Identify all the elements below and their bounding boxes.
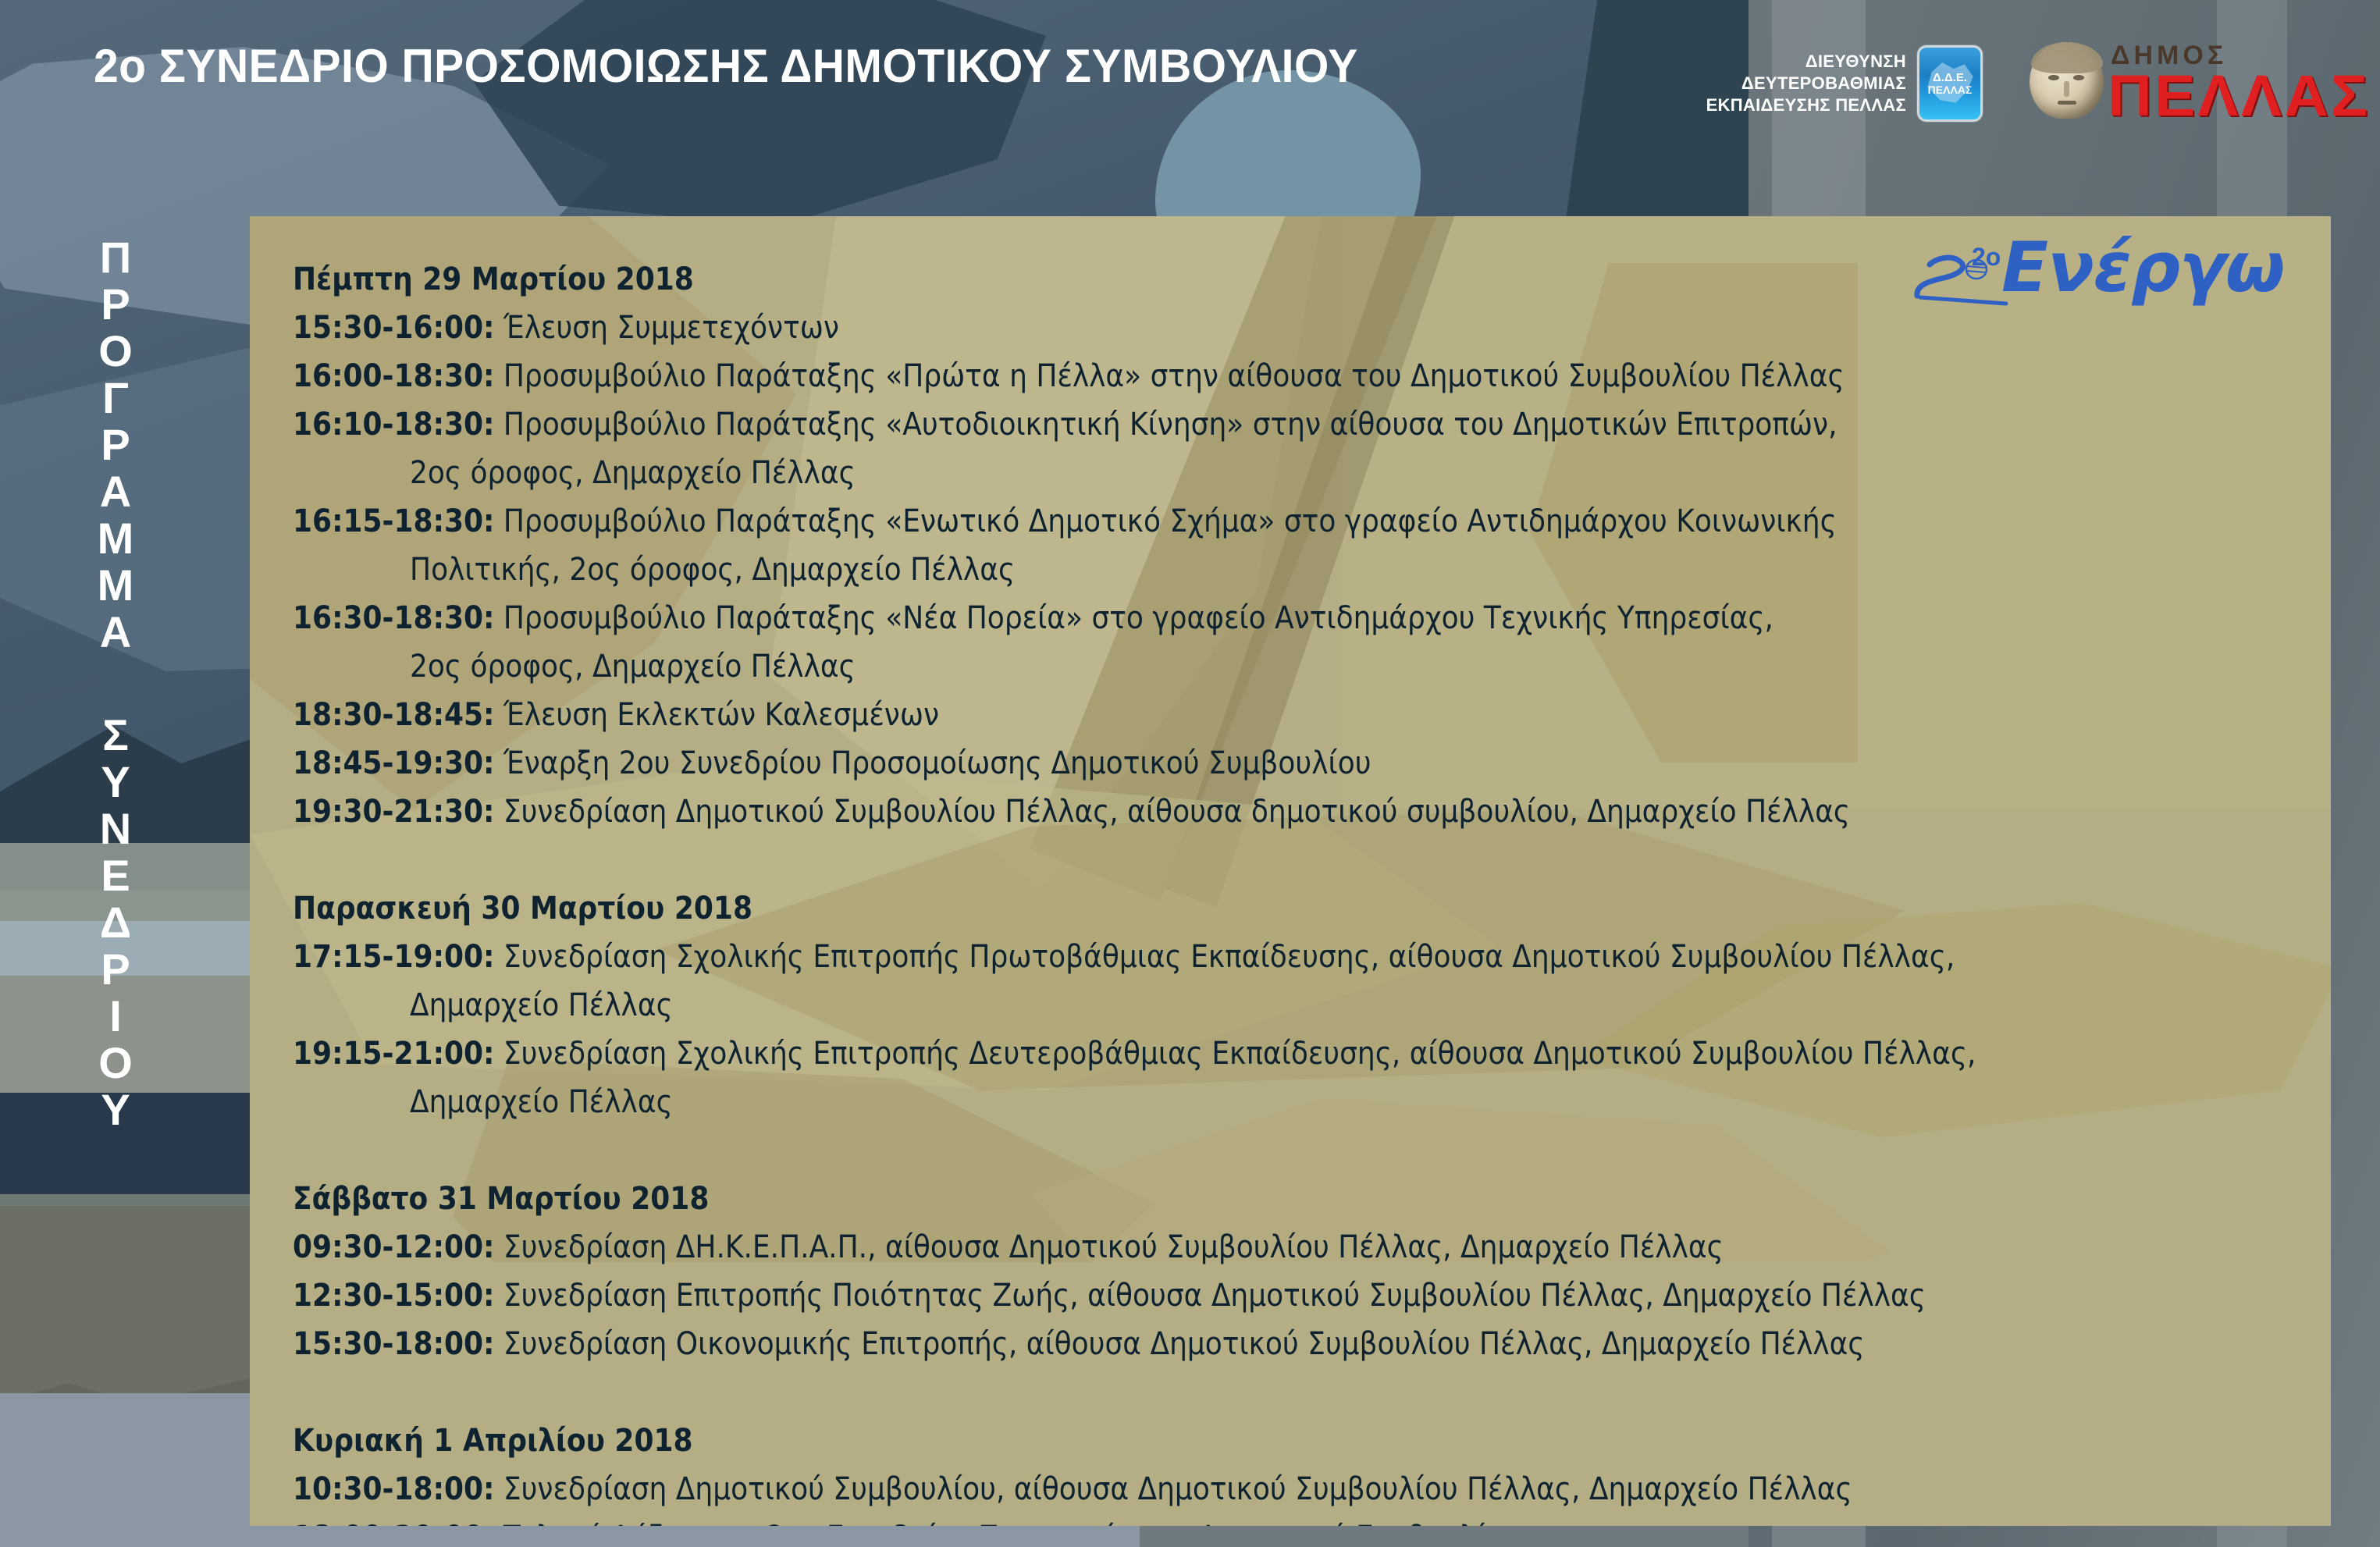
programme-item-text: Προσυμβούλιο Παράταξης «Αυτοδιοικητική Κ… xyxy=(494,407,1837,443)
day-heading: Πέμπτη 29 Μαρτίου 2018 xyxy=(293,255,2322,304)
programme-item-time: 09:30-12:00: xyxy=(293,1229,494,1265)
side-label-synedriou-char-7: Ο xyxy=(98,1040,133,1086)
programme-item: 15:30-18:00: Συνεδρίαση Οικονομικής Επιτ… xyxy=(293,1320,2322,1368)
programme-item-continuation: 2ος όροφος, Δημαρχείο Πέλλας xyxy=(293,449,2322,497)
programme-item-text: Προσυμβούλιο Παράταξης «Πρώτα η Πέλλα» σ… xyxy=(494,358,1844,394)
side-label-synedriou: ΣΥΝΕΔΡΙΟΥ xyxy=(98,712,133,1133)
side-label-programma-char-7: Μ xyxy=(98,562,134,609)
programme-item-continuation: Δημαρχείο Πέλλας xyxy=(293,981,2322,1030)
programme-item-time: 19:30-21:30: xyxy=(293,794,494,830)
programme-item: 09:30-12:00: Συνεδρίαση ΔΗ.Κ.Ε.Π.Α.Π., α… xyxy=(293,1223,2322,1271)
programme-item-time: 16:00-18:30: xyxy=(293,358,494,394)
programme-item-text: Προσυμβούλιο Παράταξης «Ενωτικό Δημοτικό… xyxy=(494,503,1836,539)
side-label-programma-char-6: Μ xyxy=(98,515,134,562)
programme-item-time: 16:30-18:30: xyxy=(293,600,494,636)
programme-item-time: 18:45-19:30: xyxy=(293,745,494,781)
programme-item-text: Συνεδρίαση Σχολικής Επιτροπής Δευτεροβάθ… xyxy=(494,1036,1976,1072)
day-spacer xyxy=(293,1368,2322,1417)
programme-item: 19:30-21:30: Συνεδρίαση Δημοτικού Συμβου… xyxy=(293,788,2322,836)
programme-item-time: 15:30-16:00: xyxy=(293,310,494,346)
pellas-word: ΠΕΛΛΑΣ xyxy=(2108,62,2370,129)
side-label-programma-char-0: Π xyxy=(100,234,131,281)
programme-item: 10:30-18:00: Συνεδρίαση Δημοτικού Συμβου… xyxy=(293,1465,2322,1513)
programme-item-continuation: 2ος όροφος, Δημαρχείο Πέλλας xyxy=(293,642,2322,691)
programme-item-text: Προσυμβούλιο Παράταξης «Νέα Πορεία» στο … xyxy=(494,600,1773,636)
programme-item-text: Έλευση Συμμετεχόντων xyxy=(494,310,839,346)
dde-badge-line-1: Δ.Δ.Ε. xyxy=(1919,71,1980,84)
programme-item: 16:15-18:30: Προσυμβούλιο Παράταξης «Ενω… xyxy=(293,497,2322,546)
day-heading: Παρασκευή 30 Μαρτίου 2018 xyxy=(293,884,2322,933)
side-label-programma-char-5: Α xyxy=(100,468,131,515)
programme-item-text: Συνεδρίαση Δημοτικού Συμβουλίου Πέλλας, … xyxy=(494,794,1850,830)
dde-pellas-logo: ΔΙΕΥΘΥΝΣΗ ΔΕΥΤΕΡΟΒΑΘΜΙΑΣ ΕΚΠΑΙΔΕΥΣΗΣ ΠΕΛ… xyxy=(1672,48,2000,119)
dde-line-1: ΔΙΕΥΘΥΝΣΗ xyxy=(1672,51,1906,73)
programme-item: 17:15-19:00: Συνεδρίαση Σχολικής Επιτροπ… xyxy=(293,933,2322,981)
programme-item-time: 15:30-18:00: xyxy=(293,1326,494,1362)
day-spacer xyxy=(293,836,2322,884)
programme-item-text: Συνεδρίαση Οικονομικής Επιτροπής, αίθουσ… xyxy=(494,1326,1864,1362)
day-block: Κυριακή 1 Απριλίου 201810:30-18:00: Συνε… xyxy=(293,1417,2322,1526)
programme-item-time: 18:00-20:00: xyxy=(293,1520,494,1526)
side-label-synedriou-char-2: Ν xyxy=(100,806,131,852)
side-label-programma-char-3: Γ xyxy=(102,375,129,421)
programme-item-time: 19:15-21:00: xyxy=(293,1036,494,1072)
day-block: Πέμπτη 29 Μαρτίου 201815:30-16:00: Έλευσ… xyxy=(293,255,2322,836)
programme-item-text: Τελετή Λήξης του 2ου Συνεδρίου Προσομοίω… xyxy=(494,1520,1518,1526)
programme-item: 15:30-16:00: Έλευση Συμμετεχόντων xyxy=(293,304,2322,352)
side-label-synedriou-char-5: Ρ xyxy=(101,946,130,993)
programme-item-time: 10:30-18:00: xyxy=(293,1471,494,1507)
programme-item: 18:00-20:00: Τελετή Λήξης του 2ου Συνεδρ… xyxy=(293,1513,2322,1526)
programme-item: 12:30-15:00: Συνεδρίαση Επιτροπής Ποιότη… xyxy=(293,1271,2322,1320)
side-label-programma-char-2: Ο xyxy=(98,328,133,375)
day-heading: Κυριακή 1 Απριλίου 2018 xyxy=(293,1417,2322,1465)
programme-item-time: 17:15-19:00: xyxy=(293,939,494,975)
programme-item: 18:45-19:30: Έναρξη 2ου Συνεδρίου Προσομ… xyxy=(293,739,2322,788)
side-label-synedriou-char-3: Ε xyxy=(101,852,130,899)
programme-item: 19:15-21:00: Συνεδρίαση Σχολικής Επιτροπ… xyxy=(293,1030,2322,1078)
programme-item-continuation: Δημαρχείο Πέλλας xyxy=(293,1078,2322,1126)
vertical-side-label: ΠΡΟΓΡΑΜΜΑ ΣΥΝΕΔΡΙΟΥ xyxy=(84,234,147,1133)
programme-item: 16:30-18:30: Προσυμβούλιο Παράταξης «Νέα… xyxy=(293,594,2322,642)
programme-item-text: Έλευση Εκλεκτών Καλεσμένων xyxy=(494,697,939,733)
programme-item-time: 18:30-18:45: xyxy=(293,697,494,733)
poster-root: 2ο ΣΥΝΕΔΡΙΟ ΠΡΟΣΟΜΟΙΩΣΗΣ ΔΗΜΟΤΙΚΟΥ ΣΥΜΒΟ… xyxy=(0,0,2380,1547)
programme-item-continuation: Πολιτικής, 2ος όροφος, Δημαρχείο Πέλλας xyxy=(293,546,2322,594)
side-label-synedriou-char-8: Υ xyxy=(101,1086,130,1133)
dde-badge-icon: Δ.Δ.Ε. ΠΕΛΛΑΣ xyxy=(1917,45,1983,122)
municipality-of-pella-logo: ΔΗΜΟΣ ΠΕΛΛΑΣ xyxy=(2030,39,2357,121)
programme-item: 18:30-18:45: Έλευση Εκλεκτών Καλεσμένων xyxy=(293,691,2322,739)
side-label-programma-char-1: Ρ xyxy=(101,281,130,328)
side-label-synedriou-char-0: Σ xyxy=(102,712,129,759)
programme-list: Πέμπτη 29 Μαρτίου 201815:30-16:00: Έλευσ… xyxy=(293,255,2322,1526)
dde-line-2: ΔΕΥΤΕΡΟΒΑΘΜΙΑΣ xyxy=(1672,73,1906,94)
dde-line-3: ΕΚΠΑΙΔΕΥΣΗΣ ΠΕΛΛΑΣ xyxy=(1672,94,1906,116)
poster-header: 2ο ΣΥΝΕΔΡΙΟ ΠΡΟΣΟΜΟΙΩΣΗΣ ΔΗΜΟΤΙΚΟΥ ΣΥΜΒΟ… xyxy=(0,0,2380,117)
programme-item-text: Συνεδρίαση Δημοτικού Συμβουλίου, αίθουσα… xyxy=(494,1471,1852,1507)
programme-item-time: 12:30-15:00: xyxy=(293,1278,494,1314)
side-label-synedriou-char-4: Δ xyxy=(100,899,131,946)
programme-item-text: Έναρξη 2ου Συνεδρίου Προσομοίωσης Δημοτι… xyxy=(494,745,1371,781)
side-label-synedriou-char-1: Υ xyxy=(101,759,130,806)
programme-item-text: Συνεδρίαση Σχολικής Επιτροπής Πρωτοβάθμι… xyxy=(494,939,1955,975)
programme-item-text: Συνεδρίαση ΔΗ.Κ.Ε.Π.Α.Π., αίθουσα Δημοτι… xyxy=(494,1229,1723,1265)
day-spacer xyxy=(293,1126,2322,1175)
programme-item-text: Συνεδρίαση Επιτροπής Ποιότητας Ζωής, αίθ… xyxy=(494,1278,1925,1314)
dde-logo-text: ΔΙΕΥΘΥΝΣΗ ΔΕΥΤΕΡΟΒΑΘΜΙΑΣ ΕΚΠΑΙΔΕΥΣΗΣ ΠΕΛ… xyxy=(1672,51,1906,116)
programme-item-time: 16:15-18:30: xyxy=(293,503,494,539)
side-label-synedriou-char-6: Ι xyxy=(109,993,122,1040)
programme-panel: 2ο Ενέργω Πέμπτη 29 Μαρτίου 201815:30-16… xyxy=(250,216,2331,1526)
day-block: Σάββατο 31 Μαρτίου 201809:30-12:00: Συνε… xyxy=(293,1175,2322,1368)
day-block: Παρασκευή 30 Μαρτίου 201817:15-19:00: Συ… xyxy=(293,884,2322,1126)
page-title: 2ο ΣΥΝΕΔΡΙΟ ΠΡΟΣΟΜΟΙΩΣΗΣ ΔΗΜΟΤΙΚΟΥ ΣΥΜΒΟ… xyxy=(94,39,1358,93)
dde-badge-line-2: ΠΕΛΛΑΣ xyxy=(1919,84,1980,96)
side-label-programma-char-4: Ρ xyxy=(101,421,130,468)
alexander-head-icon xyxy=(2030,42,2104,119)
programme-item: 16:10-18:30: Προσυμβούλιο Παράταξης «Αυτ… xyxy=(293,400,2322,449)
side-label-programma-char-8: Α xyxy=(100,609,131,656)
side-label-programma: ΠΡΟΓΡΑΜΜΑ xyxy=(98,234,134,656)
programme-item: 16:00-18:30: Προσυμβούλιο Παράταξης «Πρώ… xyxy=(293,352,2322,400)
programme-item-time: 16:10-18:30: xyxy=(293,407,494,443)
day-heading: Σάββατο 31 Μαρτίου 2018 xyxy=(293,1175,2322,1223)
